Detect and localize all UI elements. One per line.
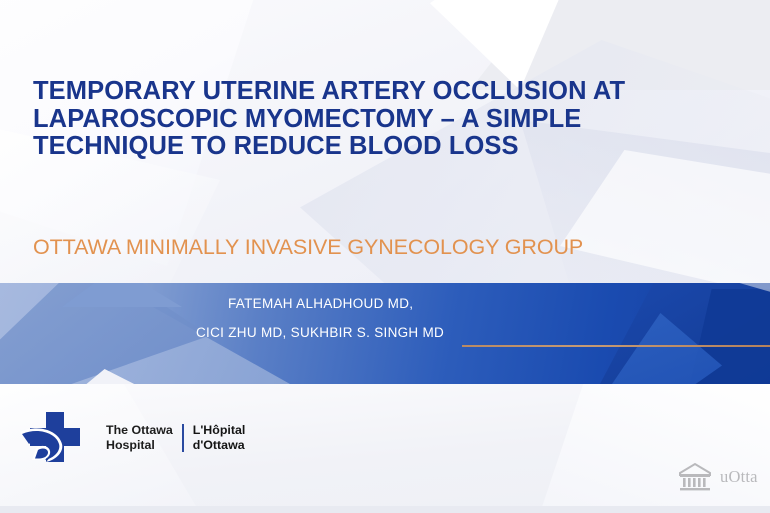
hospital-name-en-line-1: The Ottawa <box>106 423 173 438</box>
author-list: FATEMAH ALHADHOUD MD, CICI ZHU MD, SUKHB… <box>0 283 770 384</box>
slide-title: TEMPORARY UTERINE ARTERY OCCLUSION AT LA… <box>33 78 753 161</box>
slide-title-line-1: TEMPORARY UTERINE ARTERY OCCLUSION AT <box>33 78 753 106</box>
hospital-name-fr: L'Hôpital d'Ottawa <box>193 423 246 452</box>
author-line-2: CICI ZHU MD, SUKHBIR S. SINGH MD <box>196 325 444 340</box>
slide-subtitle: OTTAWA MINIMALLY INVASIVE GYNECOLOGY GRO… <box>33 234 583 260</box>
slide-title-line-3: TECHNIQUE TO REDUCE BLOOD LOSS <box>33 133 753 161</box>
hospital-cross-icon <box>18 410 92 474</box>
hospital-name-fr-line-1: L'Hôpital <box>193 423 246 438</box>
uottawa-logo: uOtta <box>678 456 770 498</box>
presentation-slide: TEMPORARY UTERINE ARTERY OCCLUSION AT LA… <box>0 0 770 513</box>
accent-rule <box>462 345 770 347</box>
hospital-logo-text: The Ottawa Hospital L'Hôpital d'Ottawa <box>106 423 245 452</box>
author-band: FATEMAH ALHADHOUD MD, CICI ZHU MD, SUKHB… <box>0 283 770 384</box>
logo-divider <box>182 424 184 452</box>
hospital-name-en-line-2: Hospital <box>106 438 173 453</box>
ottawa-hospital-logo: The Ottawa Hospital L'Hôpital d'Ottawa <box>18 410 318 476</box>
hospital-name-en: The Ottawa Hospital <box>106 423 173 452</box>
author-line-1: FATEMAH ALHADHOUD MD, <box>228 296 413 311</box>
slide-title-line-2: LAPAROSCOPIC MYOMECTOMY – A SIMPLE <box>33 106 753 134</box>
footer-bottom-edge <box>0 506 770 513</box>
university-building-icon <box>678 462 712 492</box>
hospital-name-fr-line-2: d'Ottawa <box>193 438 246 453</box>
uottawa-logo-text: uOtta <box>720 467 758 487</box>
